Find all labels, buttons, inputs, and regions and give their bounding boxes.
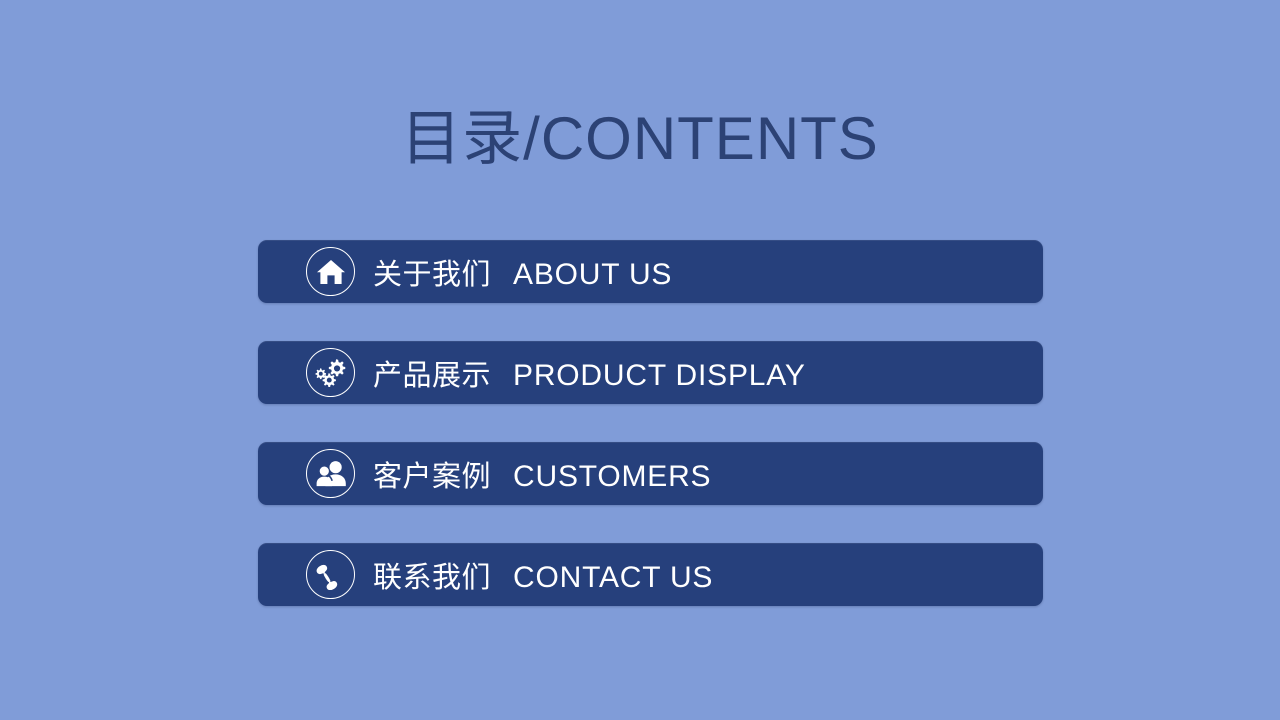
menu-item-label-cn: 客户案例 xyxy=(373,453,491,495)
contents-slide: 目录/CONTENTS 关于我们 ABOUT US xyxy=(0,0,1280,720)
menu-item-customers[interactable]: 客户案例 CUSTOMERS xyxy=(258,442,1043,505)
menu-item-about-us[interactable]: 关于我们 ABOUT US xyxy=(258,240,1043,303)
menu-item-label-cn: 关于我们 xyxy=(373,251,491,293)
menu-item-label-cn: 联系我们 xyxy=(373,554,491,596)
menu-item-label-cn: 产品展示 xyxy=(373,352,491,394)
menu-item-labels: 产品展示 PRODUCT DISPLAY xyxy=(373,352,806,394)
menu-item-product-display[interactable]: 产品展示 PRODUCT DISPLAY xyxy=(258,341,1043,404)
gears-icon xyxy=(306,348,355,397)
menu-item-labels: 联系我们 CONTACT US xyxy=(373,554,713,596)
home-icon xyxy=(306,247,355,296)
menu-item-label-en: CUSTOMERS xyxy=(513,460,711,494)
phone-icon xyxy=(306,550,355,599)
contents-menu: 关于我们 ABOUT US xyxy=(258,240,1043,606)
users-icon xyxy=(306,449,355,498)
menu-item-label-en: PRODUCT DISPLAY xyxy=(513,359,806,393)
menu-item-labels: 关于我们 ABOUT US xyxy=(373,251,672,293)
menu-item-contact-us[interactable]: 联系我们 CONTACT US xyxy=(258,543,1043,606)
menu-item-label-en: ABOUT US xyxy=(513,258,672,292)
menu-item-labels: 客户案例 CUSTOMERS xyxy=(373,453,711,495)
menu-item-label-en: CONTACT US xyxy=(513,561,713,595)
page-title: 目录/CONTENTS xyxy=(0,103,1280,175)
